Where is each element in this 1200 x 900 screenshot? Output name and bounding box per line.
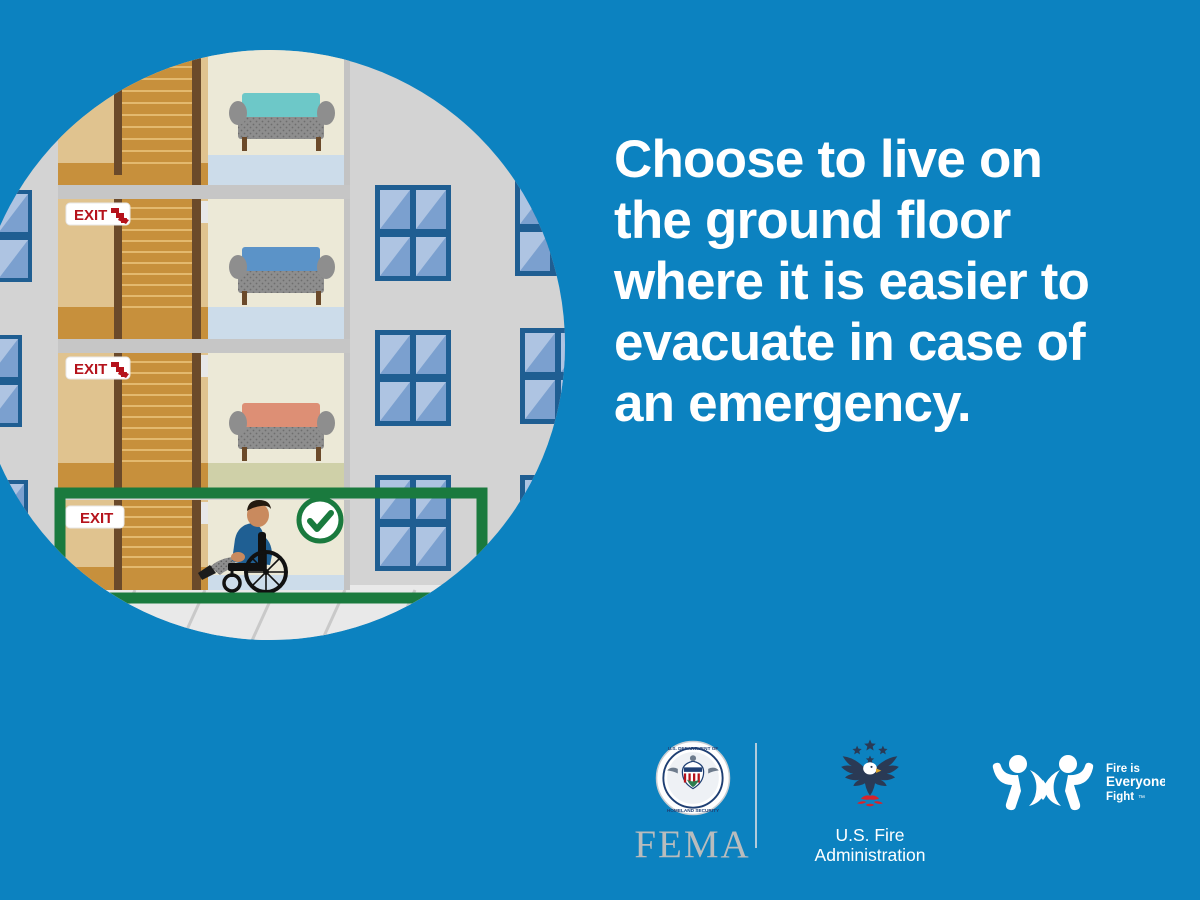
green-check-circle-icon: [299, 499, 341, 541]
feif-line2: Everyone's: [1106, 774, 1165, 789]
exit-sign-ground: EXIT: [66, 506, 124, 528]
staircase-ground: [120, 500, 196, 590]
stair-rail-top-left: [114, 45, 122, 175]
cutaway-edge-ground: [344, 500, 350, 590]
illustration-clip-group: EXIT: [0, 45, 570, 645]
floor-slab-2: [58, 339, 350, 353]
exit-sign-label: EXIT: [80, 510, 113, 527]
staircase-3: [120, 199, 196, 317]
staircase-2: [120, 353, 196, 471]
stair-treads-ground: [120, 507, 196, 567]
cutaway-edge-2: [344, 353, 350, 493]
feif-trademark: ™: [1138, 795, 1145, 802]
cutaway-edge-3: [344, 199, 350, 339]
hand: [231, 552, 245, 562]
usfa-eagle-icon: [824, 735, 916, 817]
fema-wordmark: FEMA: [610, 825, 775, 864]
svg-text:HOMELAND SECURITY: HOMELAND SECURITY: [666, 808, 719, 813]
logo-divider: [755, 743, 757, 848]
feif-figures: [993, 755, 1093, 810]
stair-rail-2-right: [192, 353, 201, 493]
eagle-stars: [852, 740, 887, 764]
usfa-logo: U.S. Fire Administration: [770, 735, 970, 866]
stair-rail-3-right: [192, 199, 201, 339]
fire-is-everyones-fight-logo: Fire is Everyone's Fight ™: [990, 750, 1165, 817]
exit-sign-label: EXIT: [74, 361, 107, 378]
feif-emblem-icon: Fire is Everyone's Fight ™: [990, 750, 1165, 812]
eagle-flames-icon: [857, 795, 883, 806]
floor-third: EXIT: [58, 199, 350, 339]
stair-rail-top-right: [192, 45, 201, 185]
stair-rail-g-right: [192, 500, 201, 590]
staircase-top: [120, 45, 196, 175]
exit-sign-third: EXIT: [66, 203, 130, 225]
wheel-spokes: [246, 552, 286, 592]
room-floor-top: [208, 155, 350, 185]
floor-top: [58, 45, 350, 185]
agency-logo-bar: U.S. DEPARTMENT OF HOMELAND SECURITY FEM…: [600, 735, 1160, 865]
room-floor-3: [208, 307, 350, 339]
floor-ground: EXIT: [58, 499, 350, 592]
dhs-seal-icon: U.S. DEPARTMENT OF HOMELAND SECURITY: [655, 740, 731, 816]
illustration-building-cutaway: EXIT: [0, 45, 570, 645]
feif-line3: Fight: [1106, 791, 1134, 803]
floor-slab-3: [58, 185, 350, 199]
eagle-head: [863, 762, 877, 774]
floor-second: EXIT: [58, 353, 350, 493]
cutaway-edge-top: [344, 45, 350, 185]
poster-canvas: EXIT: [0, 0, 1200, 900]
page-headline: Choose to live on the ground floor where…: [614, 129, 1154, 435]
curb: [0, 643, 570, 645]
fema-logo: U.S. DEPARTMENT OF HOMELAND SECURITY FEM…: [610, 740, 775, 864]
exit-sign-label: EXIT: [74, 207, 107, 224]
usfa-wordmark: U.S. Fire Administration: [770, 825, 970, 866]
exit-sign-second: EXIT: [66, 357, 130, 379]
svg-text:U.S. DEPARTMENT OF: U.S. DEPARTMENT OF: [667, 746, 718, 751]
